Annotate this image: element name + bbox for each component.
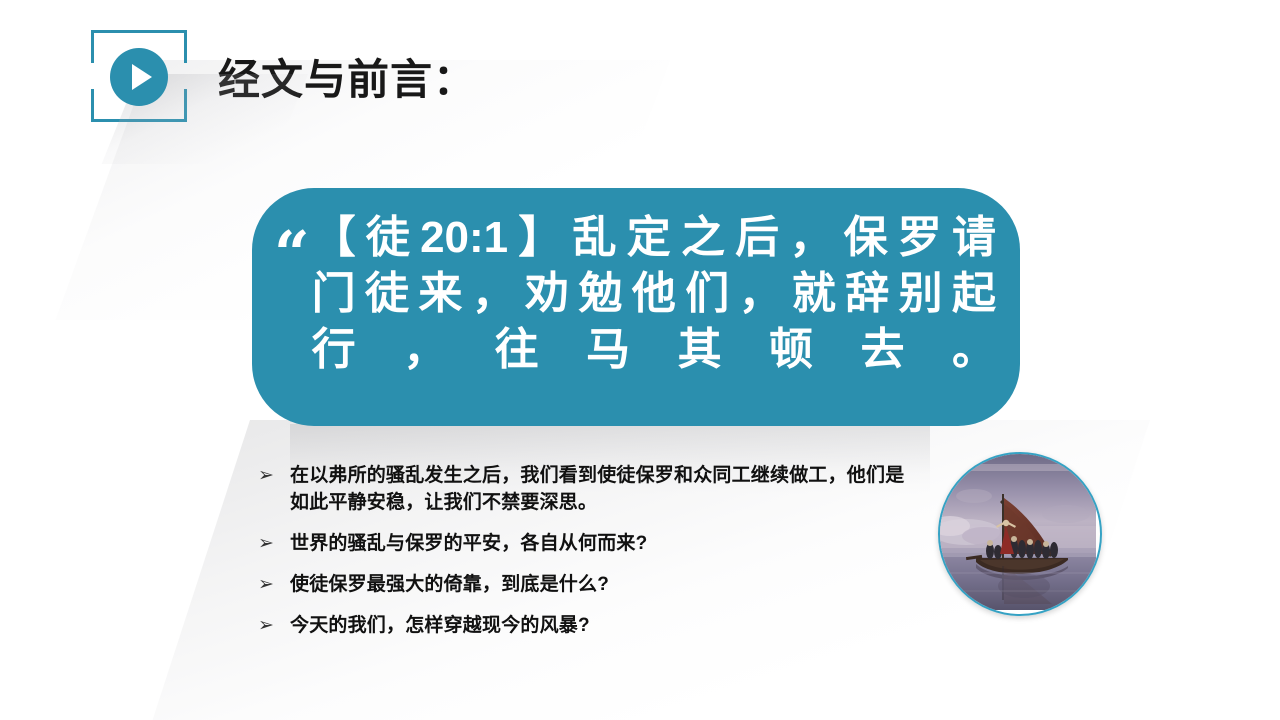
list-item: ➢ 今天的我们，怎样穿越现今的风暴? (258, 612, 918, 639)
play-triangle-icon (132, 64, 152, 90)
arrow-bullet-icon: ➢ (258, 462, 290, 489)
slide-canvas: 经文与前言： “ 【徒20:1】乱定之后，保罗请 门徒来，劝勉他们，就辞别起 行… (0, 0, 1280, 720)
arrow-bullet-icon: ➢ (258, 571, 290, 598)
list-item-label: 使徒保罗最强大的倚靠，到底是什么? (290, 571, 918, 598)
frame-edge-right-upper (184, 30, 187, 63)
painting-artwork (940, 454, 1096, 610)
open-quote-icon: “ (274, 226, 310, 282)
scripture-quote-bubble: “ 【徒20:1】乱定之后，保罗请 门徒来，劝勉他们，就辞别起 行，往马其顿去。 (252, 188, 1020, 426)
slide-header: 经文与前言： (0, 0, 1280, 150)
list-item-label: 在以弗所的骚乱发生之后，我们看到使徒保罗和众同工继续做工，他们是如此平静安稳，让… (290, 462, 918, 516)
list-item: ➢ 在以弗所的骚乱发生之后，我们看到使徒保罗和众同工继续做工，他们是如此平静安稳… (258, 462, 918, 516)
quote-line: 【徒20:1】乱定之后，保罗请 (312, 210, 996, 266)
quote-line: 门徒来，劝勉他们，就辞别起 (312, 266, 996, 322)
boat-on-calm-water-painting (938, 452, 1102, 616)
list-item: ➢ 使徒保罗最强大的倚靠，到底是什么? (258, 571, 918, 598)
arrow-bullet-icon: ➢ (258, 530, 290, 557)
play-button-icon[interactable] (110, 48, 168, 106)
arrow-bullet-icon: ➢ (258, 612, 290, 639)
list-item-label: 世界的骚乱与保罗的平安，各自从何而来? (290, 530, 918, 557)
frame-edge-top (91, 30, 187, 33)
frame-edge-left-lower (91, 89, 94, 122)
scripture-quote-text: 【徒20:1】乱定之后，保罗请 门徒来，劝勉他们，就辞别起 行，往马其顿去。 (312, 210, 996, 378)
list-item-label: 今天的我们，怎样穿越现今的风暴? (290, 612, 918, 639)
frame-edge-left-upper (91, 30, 94, 63)
list-item: ➢ 世界的骚乱与保罗的平安，各自从何而来? (258, 530, 918, 557)
quote-line: 行，往马其顿去。 (312, 322, 996, 378)
bullet-list: ➢ 在以弗所的骚乱发生之后，我们看到使徒保罗和众同工继续做工，他们是如此平静安稳… (258, 462, 918, 639)
bubble-content: “ 【徒20:1】乱定之后，保罗请 门徒来，劝勉他们，就辞别起 行，往马其顿去。 (252, 188, 1020, 426)
